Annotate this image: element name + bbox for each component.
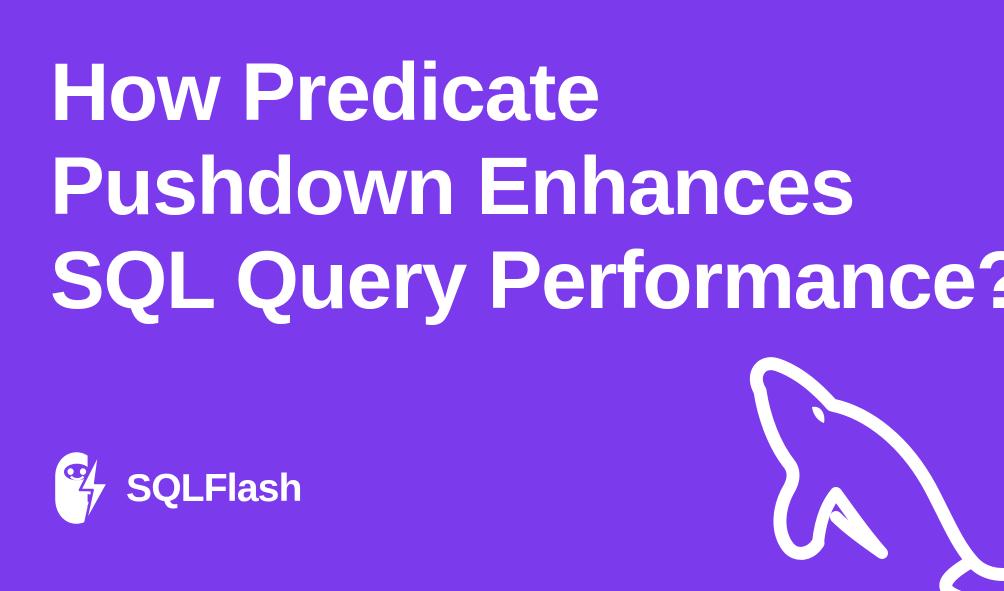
sloth-lightning-logo-icon bbox=[52, 450, 110, 526]
article-cover-banner: How Predicate Pushdown Enhances SQL Quer… bbox=[0, 0, 1004, 591]
title-line-3: SQL Query Performance? bbox=[50, 234, 980, 328]
title-line-2: Pushdown Enhances bbox=[50, 140, 980, 234]
mysql-dolphin-icon bbox=[720, 347, 1004, 591]
brand-logo-lockup[interactable]: SQLFlash bbox=[52, 450, 302, 526]
brand-wordmark: SQLFlash bbox=[126, 469, 302, 508]
title-line-1: How Predicate bbox=[50, 46, 980, 140]
page-title: How Predicate Pushdown Enhances SQL Quer… bbox=[50, 46, 980, 328]
